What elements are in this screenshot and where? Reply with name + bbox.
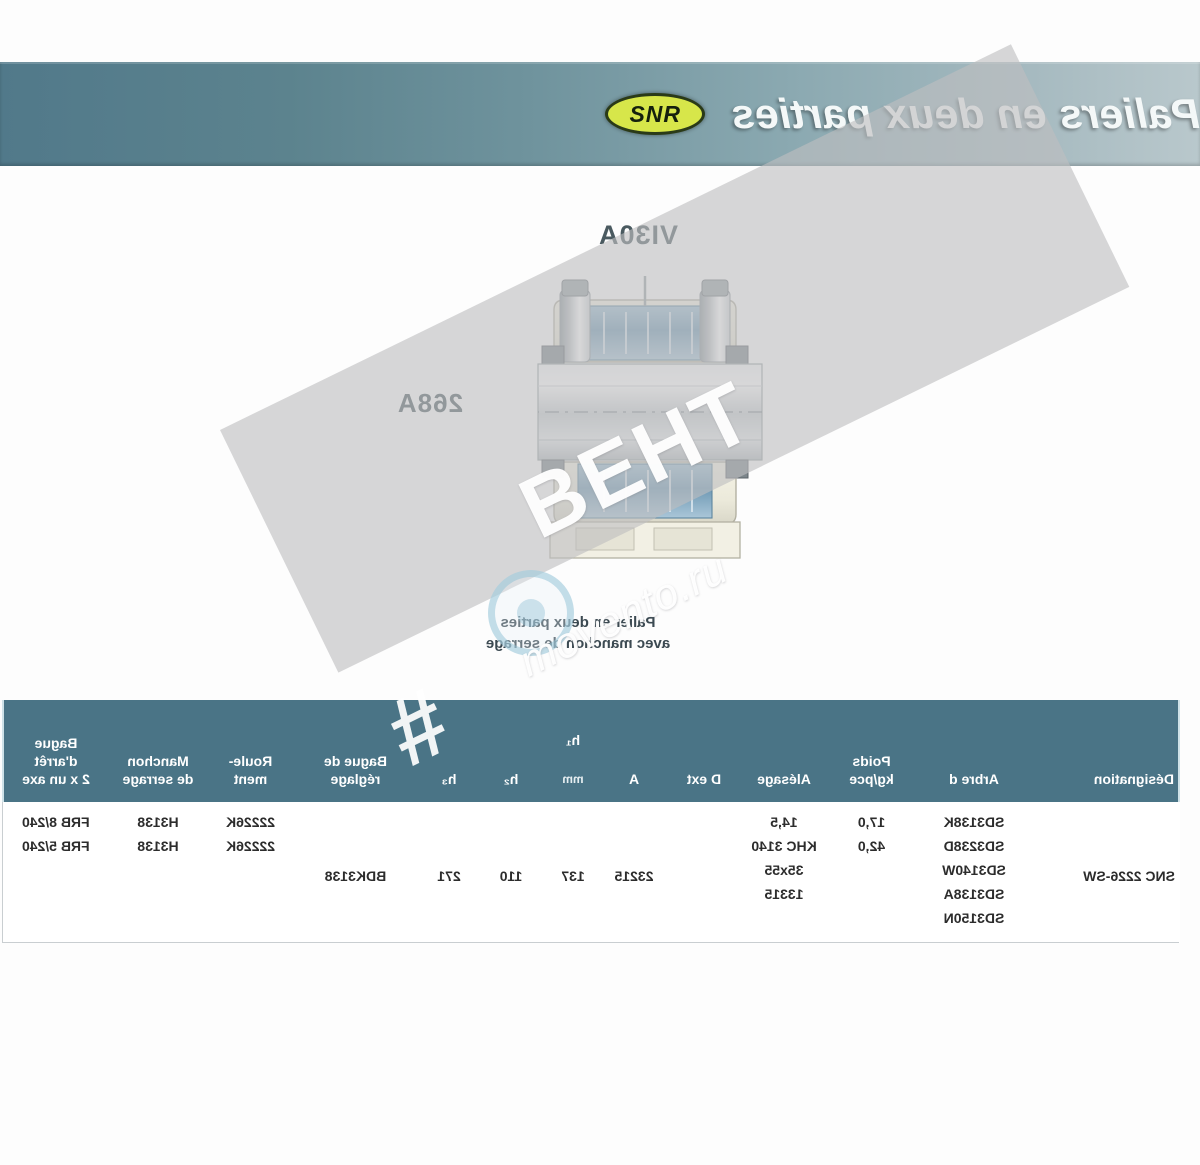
col-header-manchon: Manchon de serrage: [108, 700, 208, 802]
col-header-arbre: Arbre d: [919, 700, 1029, 802]
table-header-row: Désignation Arbre d Poids kg/pce Alésage…: [3, 700, 1179, 802]
page-title: Paliers en deux parties: [731, 90, 1200, 138]
cell-bague-arret: FRB 8/240 FRB 5/240: [3, 802, 108, 942]
cell-designation: SNC 2226-SW: [1029, 802, 1179, 942]
cell-arbre: SD3138K SD3238D SD3140W SD3138A SD3150N: [919, 802, 1029, 942]
col-header-h2: h₂: [480, 700, 542, 802]
specification-table: Désignation Arbre d Poids kg/pce Alésage…: [2, 700, 1180, 943]
col-header-bague-reglage: Bague de réglage: [293, 700, 418, 802]
cell-manchon: H3138 H3138: [108, 802, 208, 942]
table-row: SNC 2226-SW SD3138K SD3238D SD3140W SD31…: [3, 802, 1179, 942]
table-body: SNC 2226-SW SD3138K SD3238D SD3140W SD31…: [3, 802, 1179, 942]
table-head: Désignation Arbre d Poids kg/pce Alésage…: [3, 700, 1179, 802]
cell-poids: 17,0 42,0: [824, 802, 919, 942]
cell-roulement: 22226K 22226K: [208, 802, 293, 942]
col-header-alesage: Alésage: [744, 700, 824, 802]
scanned-sheet: SNR Paliers en deux parties VI30A 268A: [0, 0, 1200, 1165]
cell-h3: 271: [418, 802, 480, 942]
drawing-caption: Palier en deux parties avec manchon de s…: [368, 612, 788, 654]
housing-lower-half: [542, 460, 748, 558]
shaft-with-adapter-sleeve: [538, 364, 762, 460]
col-header-h3: h₃: [418, 700, 480, 802]
cell-h1: 137: [542, 802, 604, 942]
table-unit-row: mm: [562, 770, 583, 788]
bearing-housing-cross-section: [470, 266, 770, 616]
catalog-page: SNR Paliers en deux parties VI30A 268A: [0, 0, 1200, 1165]
col-header-a: A: [604, 700, 664, 802]
cell-h2: 110: [480, 802, 542, 942]
brand-logo: SNR: [605, 93, 705, 135]
col-header-dext: D ext: [664, 700, 744, 802]
brand-logo-label: SNR: [629, 101, 681, 128]
col-header-roulement: Roule- ment: [208, 700, 293, 802]
cell-a: 23215: [604, 802, 664, 942]
cell-alesage: 14,5 KHC 3140 35x55 13315: [744, 802, 824, 942]
technical-drawing: VI30A 268A: [370, 200, 790, 670]
drawing-label-top: VI30A: [598, 220, 678, 251]
col-header-bague-arret: Bague d'arrêt 2 x un axe: [3, 700, 108, 802]
col-header-poids: Poids kg/pce: [824, 700, 919, 802]
drawing-label-right: 268A: [397, 388, 463, 419]
col-header-h1-label: h₁: [566, 732, 580, 748]
housing-upper-half: [542, 276, 748, 364]
catalog-header-band: SNR Paliers en deux parties: [0, 62, 1200, 166]
cell-dext: [664, 802, 744, 942]
col-header-designation: Désignation: [1029, 700, 1179, 802]
cell-bague-reglage: BDK3138: [293, 802, 418, 942]
specification-table-wrapper: Désignation Arbre d Poids kg/pce Alésage…: [20, 700, 1180, 943]
col-header-h1: h₁ mm: [542, 700, 604, 802]
